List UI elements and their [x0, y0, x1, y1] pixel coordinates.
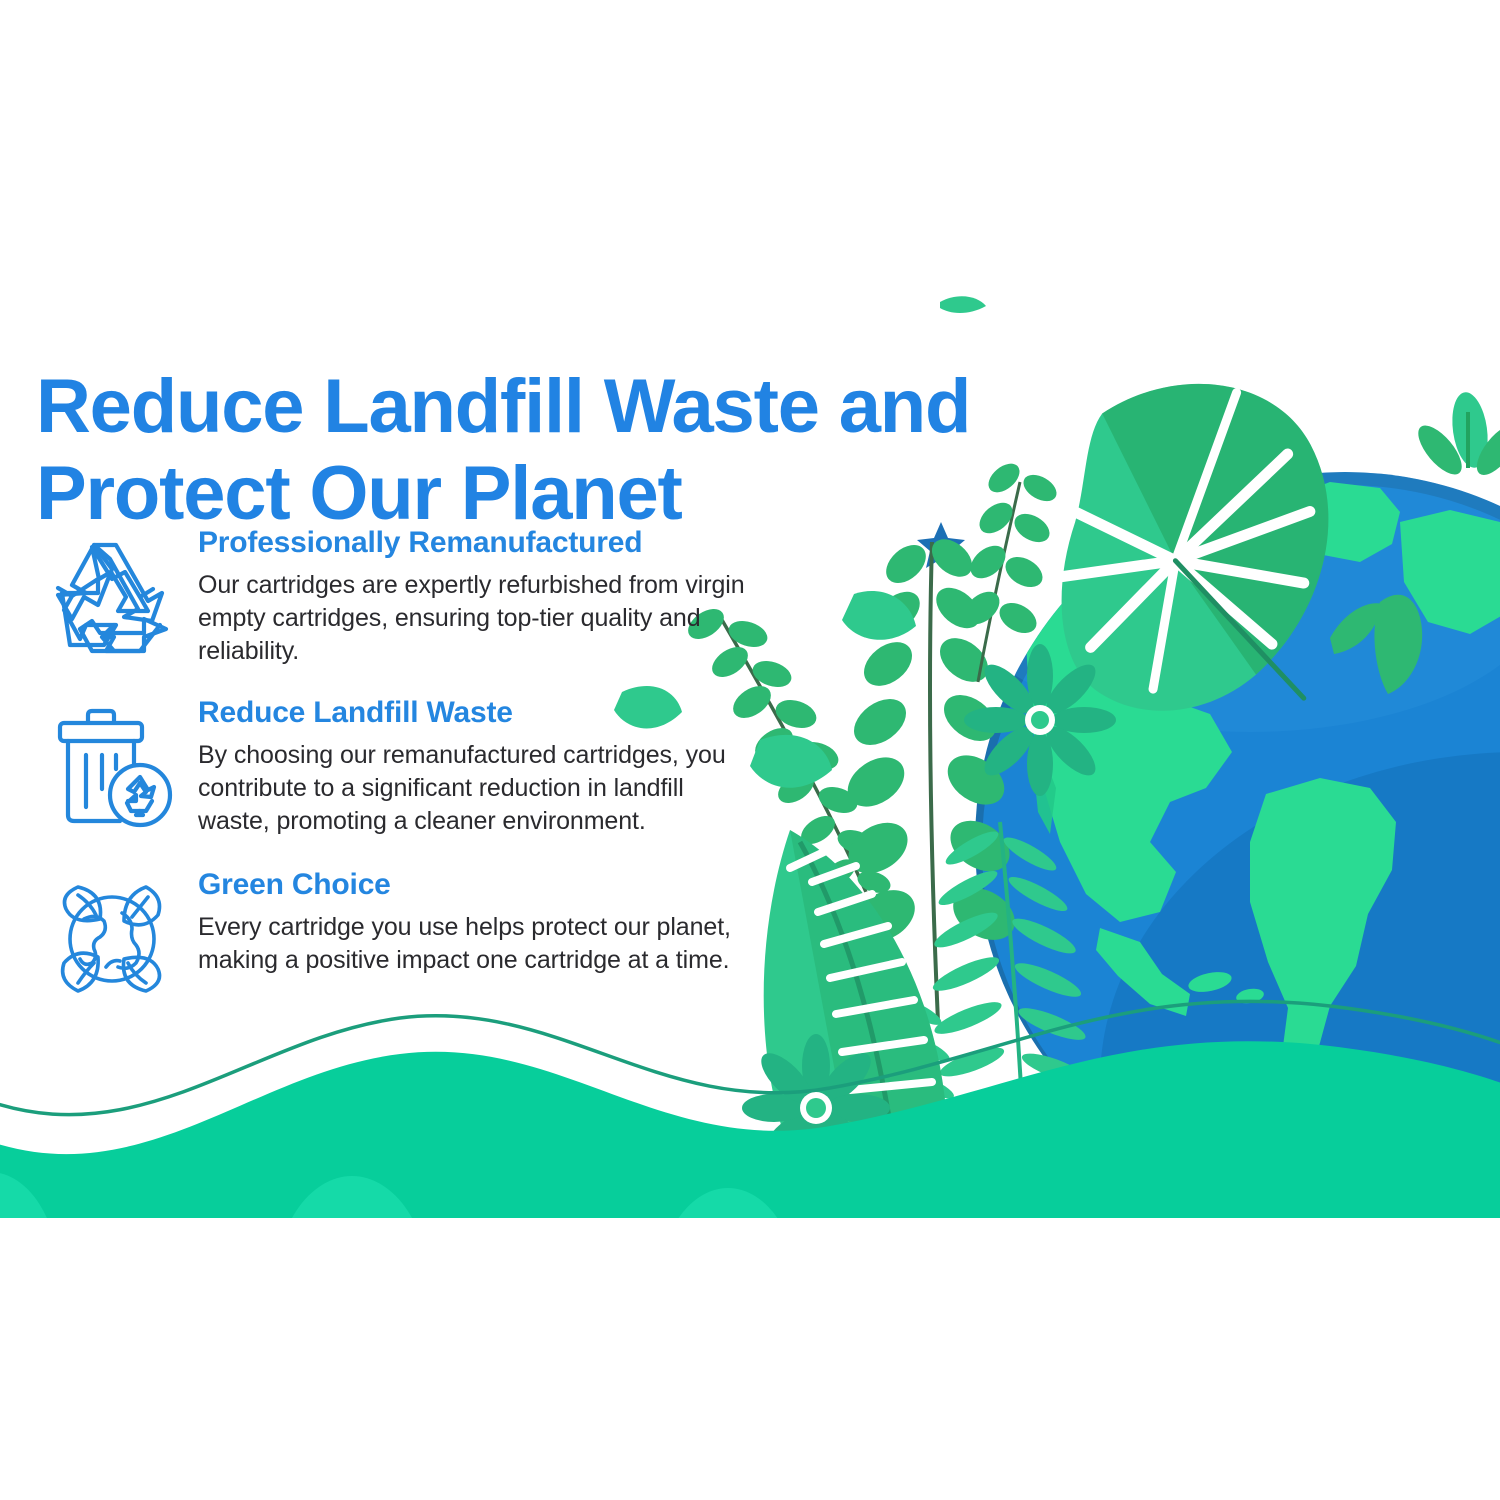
feature-body: Every cartridge you use helps protect ou…	[198, 911, 760, 977]
feature-item-professionally-remanufactured: Professionally Remanufactured Our cartri…	[40, 525, 760, 685]
feature-body: By choosing our remanufactured cartridge…	[198, 739, 760, 838]
feature-item-green-choice: Green Choice Every cartridge you use hel…	[40, 867, 760, 1027]
eco-marketing-banner: Reduce Landfill Waste and Protect Our Pl…	[0, 0, 1500, 1500]
text-layer: Reduce Landfill Waste and Protect Our Pl…	[0, 0, 1500, 1500]
feature-body: Our cartridges are expertly refurbished …	[198, 569, 760, 668]
feature-title: Green Choice	[198, 867, 760, 903]
page-title: Reduce Landfill Waste and Protect Our Pl…	[36, 363, 1066, 537]
feature-title: Professionally Remanufactured	[198, 525, 760, 561]
feature-title: Reduce Landfill Waste	[198, 695, 760, 731]
globe-leaves-icon	[48, 875, 176, 1003]
trash-bin-recycle-icon	[48, 703, 176, 831]
feature-item-reduce-landfill-waste: Reduce Landfill Waste By choosing our re…	[40, 695, 760, 855]
feature-list: Professionally Remanufactured Our cartri…	[40, 525, 760, 1035]
recycle-arrows-icon	[48, 533, 176, 661]
